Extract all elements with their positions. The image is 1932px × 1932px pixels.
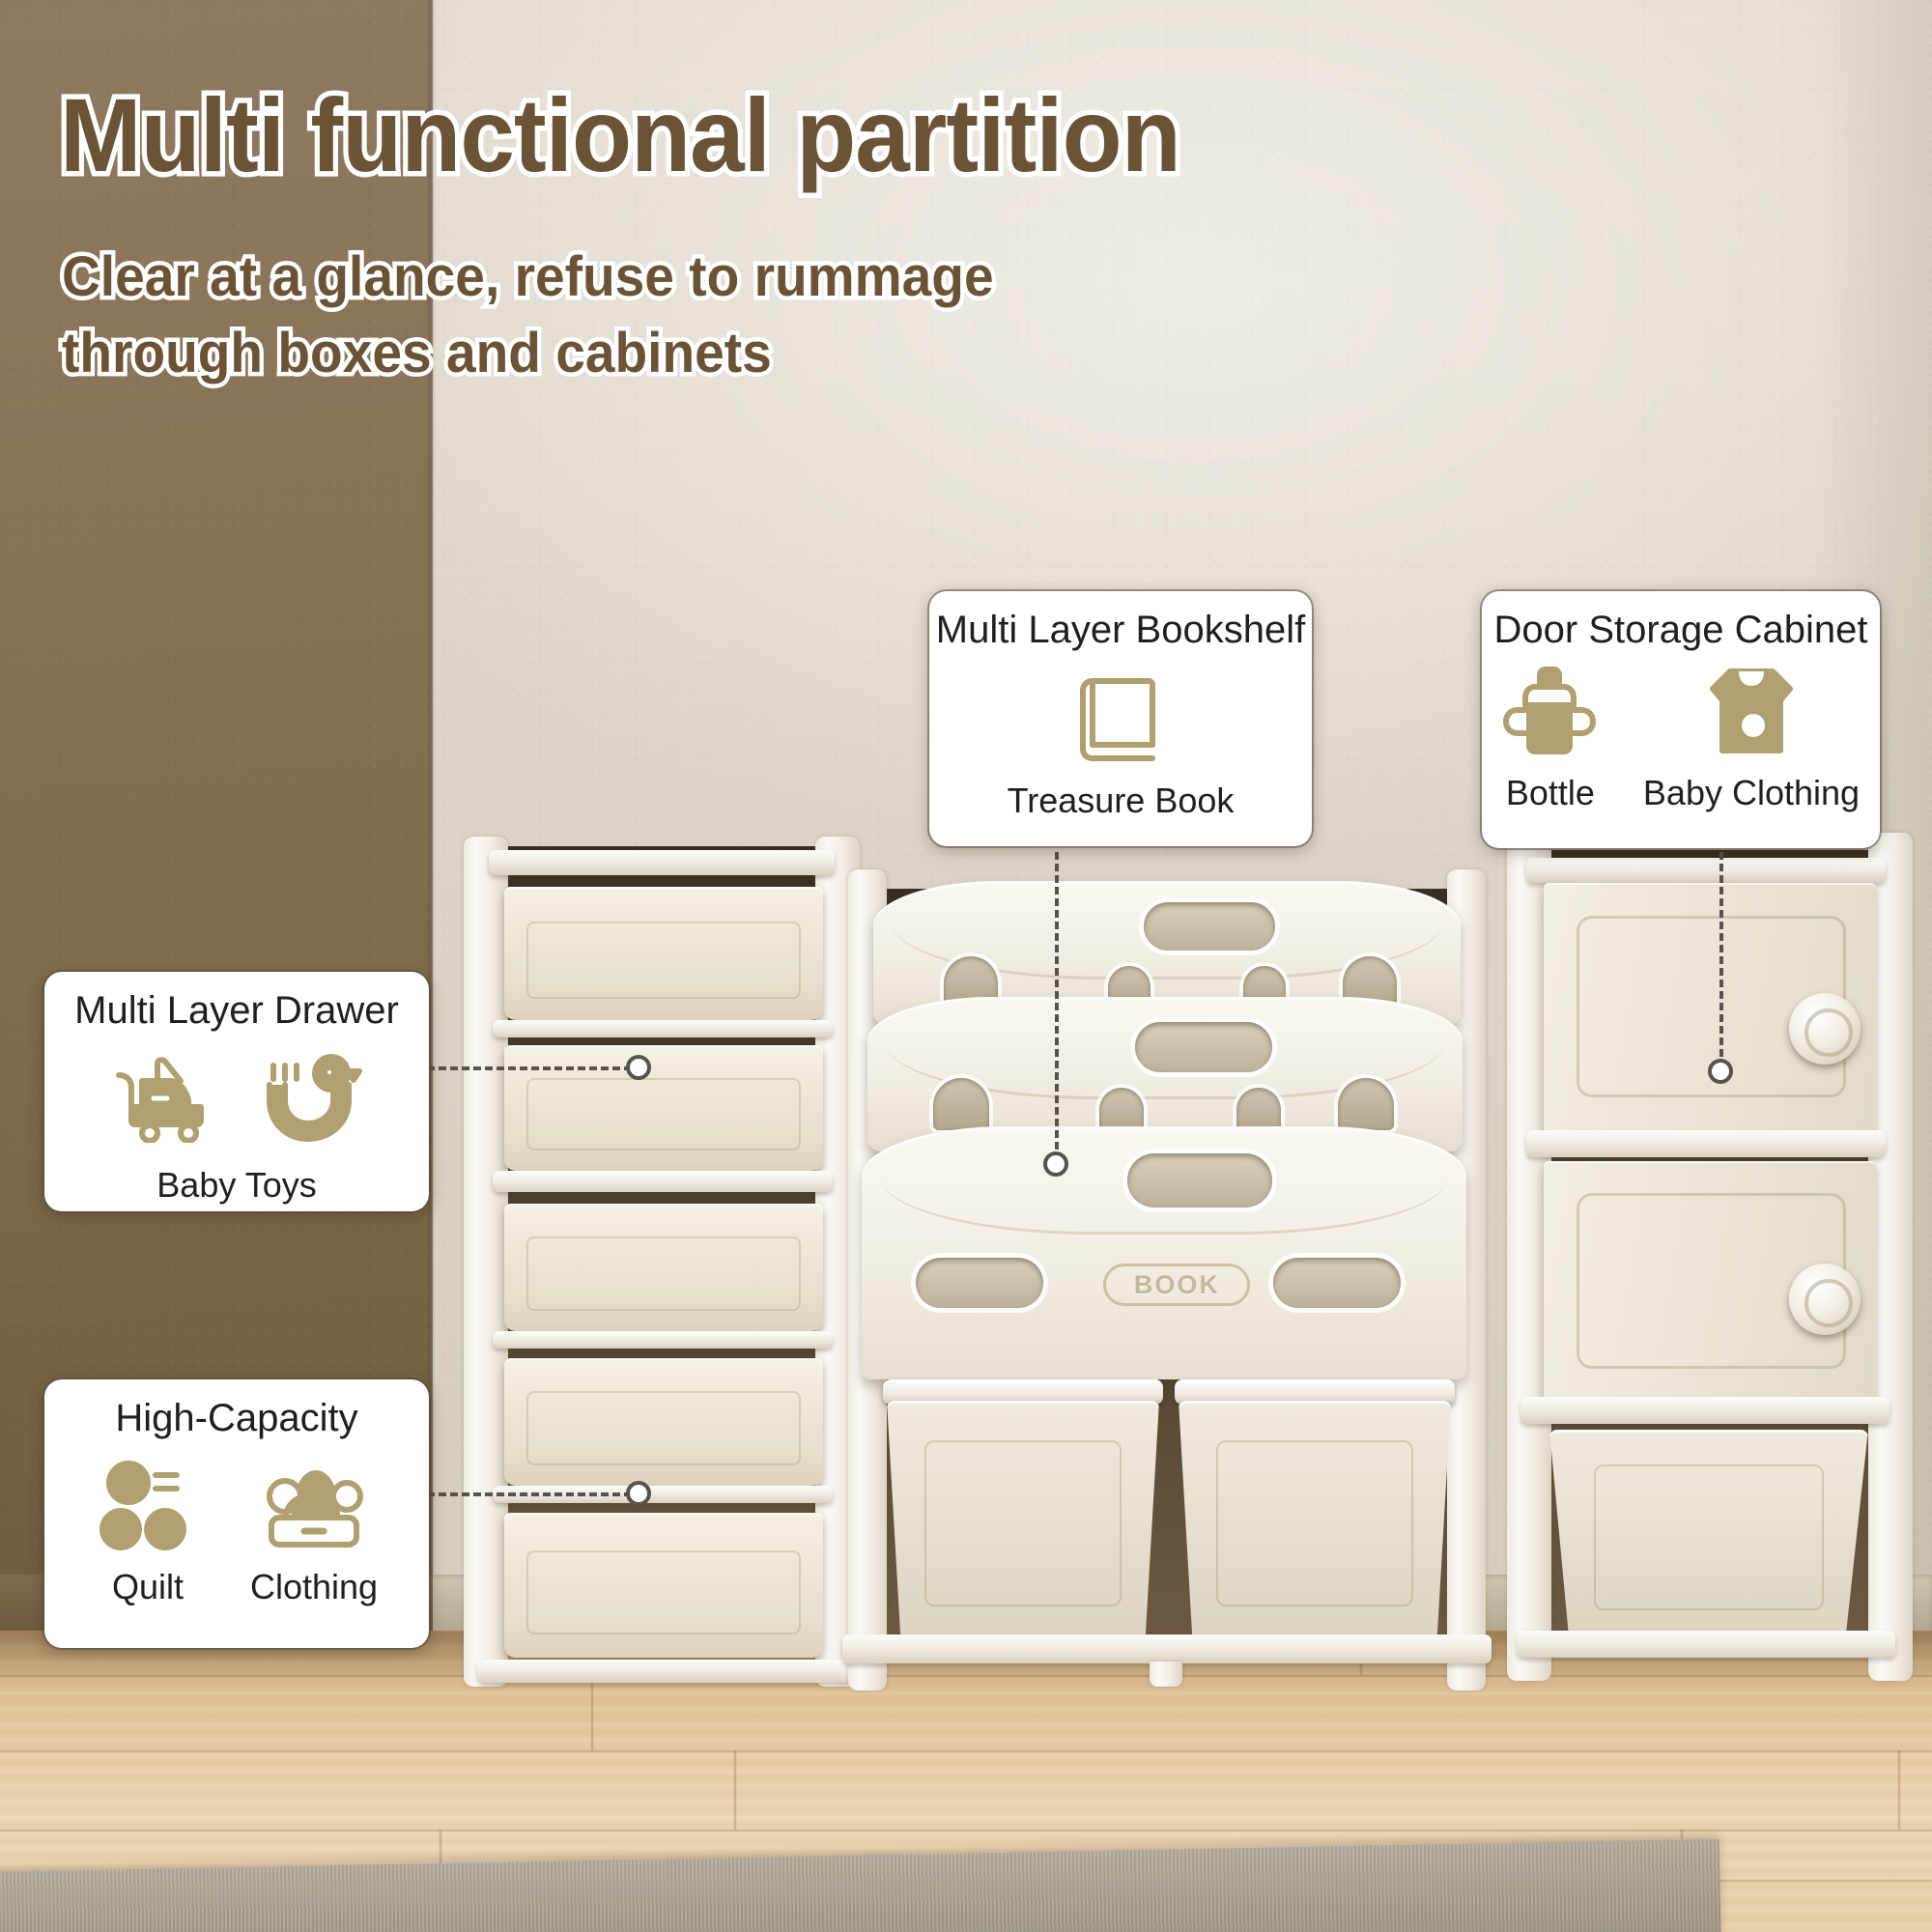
callout-caption: Baby Toys [156, 1165, 316, 1206]
leader-dot-cabinet [1708, 1059, 1733, 1084]
callout-card-multi-layer-bookshelf[interactable]: Multi Layer Bookshelf Treasure Book [929, 591, 1312, 846]
baby-clothing-icon [1697, 659, 1805, 765]
rocking-duck-icon [260, 1045, 366, 1151]
callout-title: High-Capacity [115, 1397, 357, 1439]
icon-label: Baby Clothing [1643, 773, 1860, 813]
cabinet-knob-lower[interactable] [1789, 1264, 1861, 1335]
callout-caption: Treasure Book [1008, 781, 1235, 821]
leader-dot-bookshelf [1043, 1151, 1068, 1177]
page-title: Multi functional partition [60, 79, 1180, 192]
storage-bin [887, 1401, 1159, 1634]
callout-title: Multi Layer Drawer [74, 989, 399, 1032]
leader-line-bookshelf [1055, 852, 1059, 1161]
callout-card-door-storage-cabinet[interactable]: Door Storage Cabinet Bottle [1482, 591, 1880, 848]
cabinet-knob-upper[interactable] [1789, 993, 1861, 1065]
book-icon [1073, 665, 1168, 771]
icon-label: Bottle [1506, 773, 1595, 813]
icon-label: Quilt [112, 1567, 184, 1607]
leader-dot-high-capacity [626, 1481, 651, 1506]
callout-card-multi-layer-drawer[interactable]: Multi Layer Drawer [44, 972, 429, 1211]
storage-bin [1179, 1401, 1451, 1634]
storage-bin [1549, 1430, 1868, 1634]
callout-title: Door Storage Cabinet [1494, 609, 1868, 651]
drawer-tower [464, 837, 860, 1687]
bookshelf-tier-front: BOOK [862, 1126, 1466, 1379]
baby-bottle-icon [1502, 659, 1599, 765]
callout-card-high-capacity[interactable]: High-Capacity [44, 1379, 429, 1648]
cabinet-tower [1507, 850, 1913, 1681]
callout-title: Multi Layer Bookshelf [936, 609, 1305, 651]
book-emboss-label: BOOK [1103, 1264, 1250, 1306]
page-subtitle: Clear at a glance, refuse to rummage thr… [62, 240, 994, 392]
rolled-quilt-icon [96, 1453, 200, 1559]
leader-line-cabinet [1719, 840, 1723, 1068]
product-feature-banner: BOOK Multi functional partition Clear at… [0, 0, 1932, 1932]
leader-line-drawer [427, 1066, 632, 1070]
folded-clothing-icon [260, 1453, 368, 1559]
leader-dot-drawer [626, 1055, 651, 1080]
leader-line-high-capacity [427, 1492, 632, 1496]
toy-cart-icon [107, 1045, 221, 1151]
bookshelf-tower: BOOK [848, 889, 1486, 1690]
icon-label: Clothing [250, 1567, 378, 1607]
